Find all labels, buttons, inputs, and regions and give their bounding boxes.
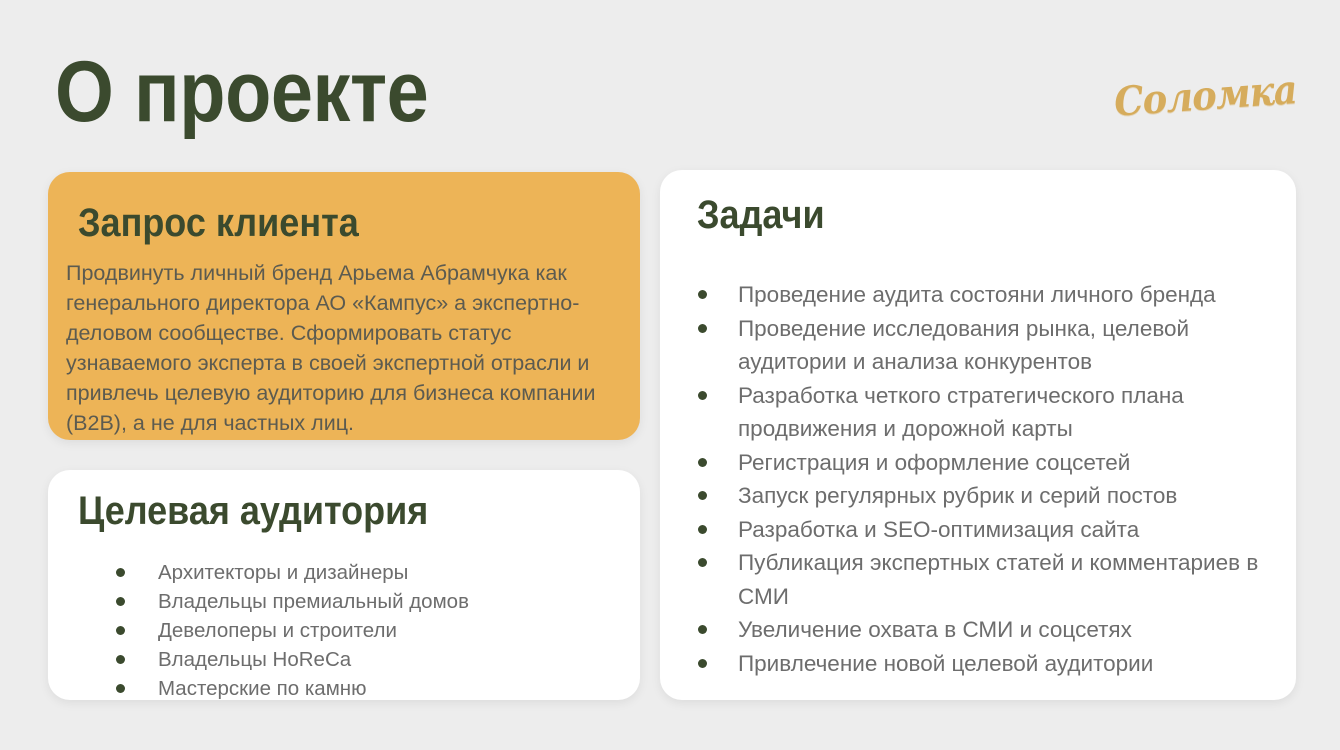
list-item: Владельцы премиальный домов — [110, 587, 610, 616]
list-item: Проведение исследования рынка, целевой а… — [690, 312, 1270, 379]
list-item: Увеличение охвата в СМИ и соцсетях — [690, 613, 1270, 647]
brand-logo: Соломка — [1112, 66, 1298, 127]
client-request-body: Продвинуть личный бренд Арьема Абрамчука… — [66, 258, 622, 438]
list-item: Привлечение новой целевой аудитории — [690, 647, 1270, 681]
target-audience-card: Целевая аудитория Архитекторы и дизайнер… — [48, 470, 640, 700]
page-title: О проекте — [55, 46, 428, 138]
list-item: Владельцы HoReCa — [110, 645, 610, 674]
list-item: Проведение аудита состояни личного бренд… — [690, 278, 1270, 312]
client-request-title: Запрос клиента — [78, 200, 359, 246]
target-audience-title: Целевая аудитория — [78, 488, 428, 534]
target-audience-list: Архитекторы и дизайнеры Владельцы премиа… — [110, 558, 610, 703]
list-item: Архитекторы и дизайнеры — [110, 558, 610, 587]
tasks-card: Задачи Проведение аудита состояни личног… — [660, 170, 1296, 700]
list-item: Мастерские по камню — [110, 674, 610, 703]
tasks-list: Проведение аудита состояни личного бренд… — [690, 278, 1270, 680]
list-item: Публикация экспертных статей и комментар… — [690, 546, 1270, 613]
list-item: Девелоперы и строители — [110, 616, 610, 645]
list-item: Разработка четкого стратегического плана… — [690, 379, 1270, 446]
client-request-card: Запрос клиента Продвинуть личный бренд А… — [48, 172, 640, 440]
list-item: Разработка и SEO-оптимизация сайта — [690, 513, 1270, 547]
list-item: Регистрация и оформление соцсетей — [690, 446, 1270, 480]
tasks-title: Задачи — [697, 192, 825, 238]
list-item: Запуск регулярных рубрик и серий постов — [690, 479, 1270, 513]
slide-root: О проекте Соломка Запрос клиента Продвин… — [0, 0, 1340, 750]
